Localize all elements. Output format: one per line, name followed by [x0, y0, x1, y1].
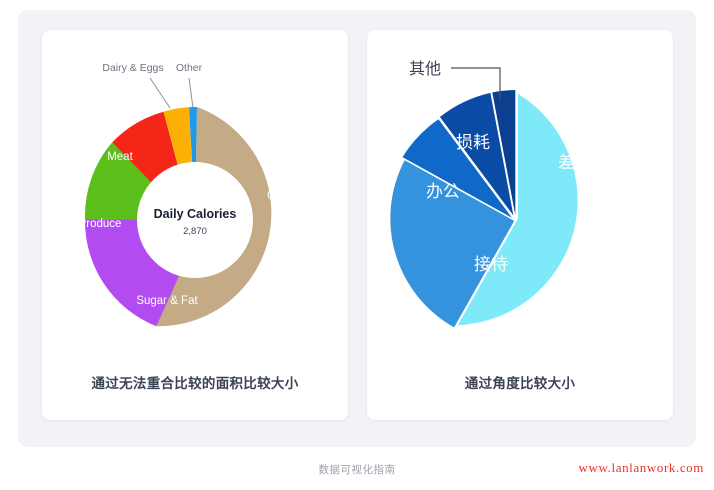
- leader-line-dairy-eggs: [150, 78, 170, 108]
- pie-label-office: 办公: [426, 182, 460, 201]
- pie-label-loss: 损耗: [456, 133, 490, 152]
- pie-chart-svg: 差旅 接待 办公 损耗 其他: [367, 30, 673, 366]
- pie-label-travel: 差旅: [558, 153, 592, 172]
- donut-label-meat: Meat: [107, 151, 133, 163]
- donut-label-dairy-eggs: Dairy & Eggs: [102, 62, 163, 74]
- card-pie-chart: 差旅 接待 办公 损耗 其他 通过角度比较大小: [367, 30, 673, 420]
- donut-chart-svg: Daily Calories 2,870 Grain Sugar & Fat P…: [42, 30, 348, 366]
- pie-chart-area: 差旅 接待 办公 损耗 其他: [367, 30, 673, 366]
- donut-center-value: 2,870: [183, 226, 207, 237]
- donut-label-produce: Produce: [79, 218, 122, 230]
- donut-label-sugar-fat: Sugar & Fat: [136, 295, 198, 307]
- pie-chart-caption: 通过角度比较大小: [367, 372, 673, 392]
- pie-slices: [390, 90, 577, 327]
- pie-label-other: 其他: [409, 60, 441, 78]
- leader-line-other: [189, 78, 193, 108]
- donut-chart-area: Daily Calories 2,870 Grain Sugar & Fat P…: [42, 30, 348, 366]
- donut-label-grain: Grain: [267, 190, 295, 202]
- screenshot-root: Daily Calories 2,870 Grain Sugar & Fat P…: [0, 0, 714, 490]
- donut-chart-caption: 通过无法重合比较的面积比较大小: [42, 372, 348, 392]
- leader-line-other: [451, 68, 500, 100]
- donut-label-other: Other: [176, 62, 203, 74]
- donut-center-title: Daily Calories: [154, 207, 237, 221]
- footer-url: www.lanlanwork.com: [579, 460, 704, 476]
- card-donut-chart: Daily Calories 2,870 Grain Sugar & Fat P…: [42, 30, 348, 420]
- pie-label-entertain: 接待: [474, 255, 508, 274]
